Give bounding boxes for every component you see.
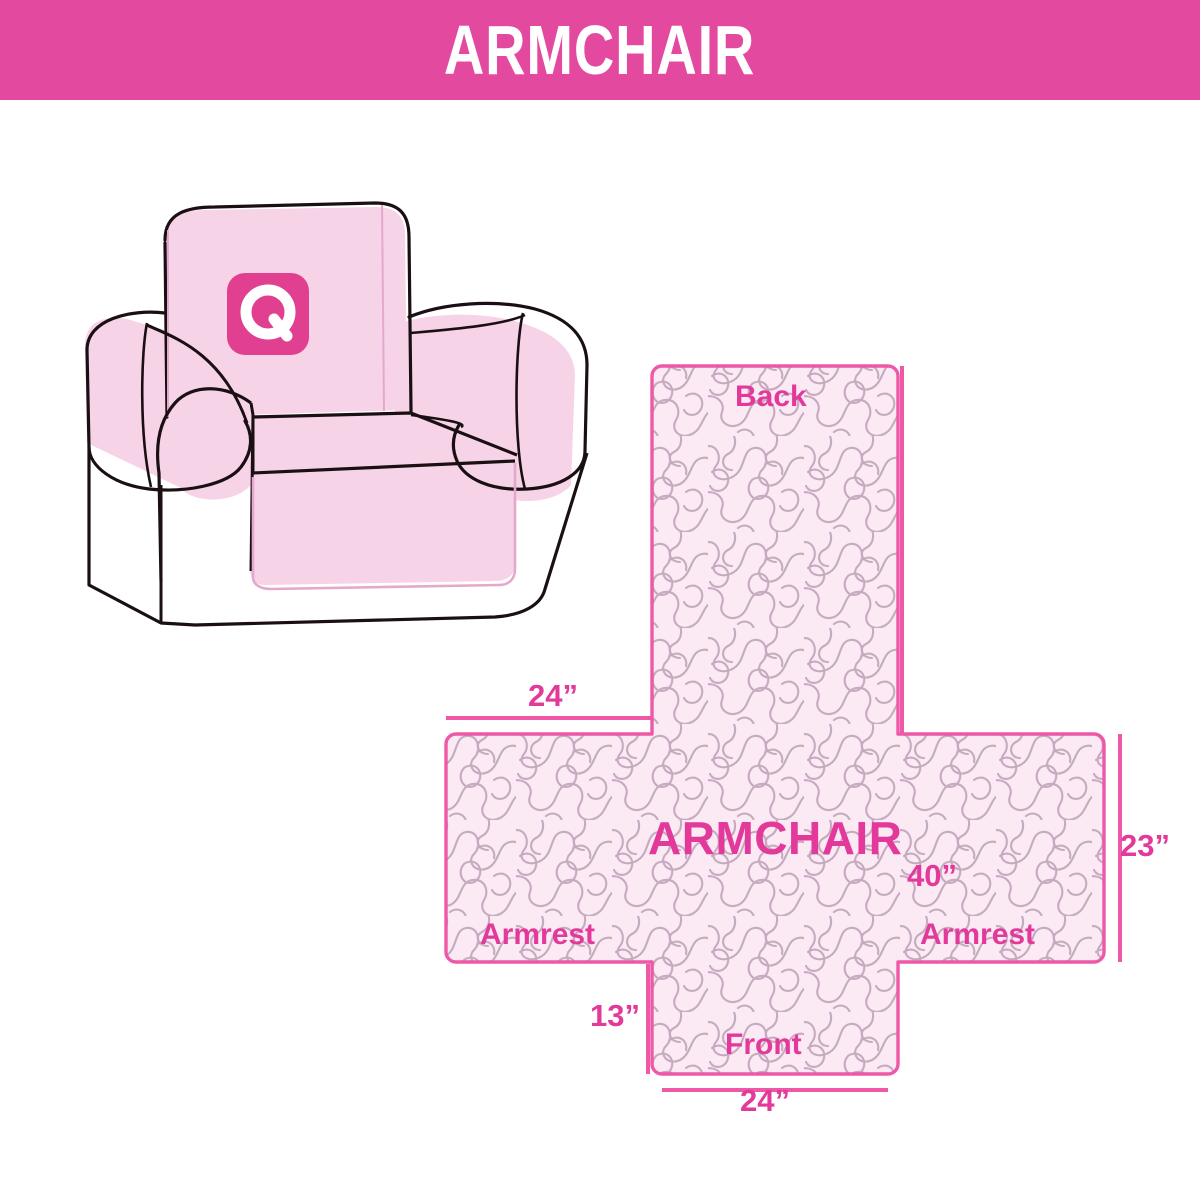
brand-logo: [227, 273, 309, 355]
header-banner: ARMCHAIR: [0, 0, 1200, 100]
panel-label-armrest-left: Armrest: [480, 920, 595, 950]
page-root: ARMCHAIR: [0, 0, 1200, 1200]
cover-flat-diagram: Back Armrest Armrest Front ARMCHAIR 40” …: [420, 340, 1200, 1140]
dimension-label-front-width: 24”: [740, 1085, 790, 1116]
dimension-label-front-height: 13”: [590, 1000, 640, 1031]
page-title: ARMCHAIR: [444, 15, 755, 85]
panel-label-armrest-right: Armrest: [920, 920, 1035, 950]
diagram-center-label: ARMCHAIR: [648, 815, 902, 861]
panel-label-front: Front: [725, 1030, 802, 1060]
chair-back-left-edge: [165, 243, 167, 417]
dimension-label-arm-width: 24”: [528, 680, 578, 711]
dimension-label-arm-depth: 23”: [1120, 830, 1170, 861]
panel-label-back: Back: [735, 382, 807, 412]
dimension-label-back-height: 40”: [907, 860, 957, 891]
